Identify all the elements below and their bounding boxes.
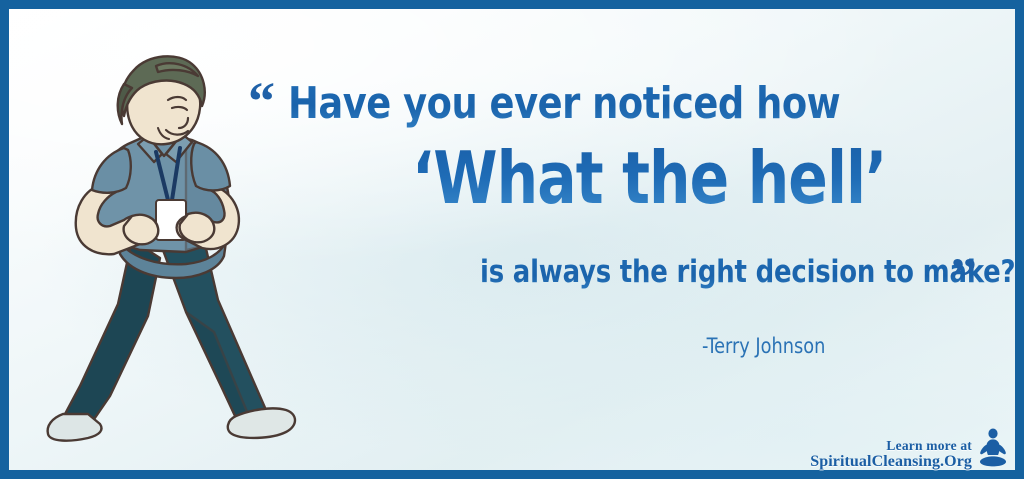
brand-text: Learn more at SpiritualCleansing.Org [810, 438, 972, 471]
meditating-figure-logo [976, 427, 1010, 471]
quote-block: “ Have you ever noticed how ‘What the he… [232, 52, 992, 352]
quote-poster: “ Have you ever noticed how ‘What the he… [0, 0, 1024, 479]
brand-tagline: Learn more at [810, 438, 972, 453]
quote-line-2: ‘What the hell’ [412, 136, 886, 220]
quote-line-3: is always the right decision to make? [480, 254, 1015, 290]
open-quote-mark: “ [248, 74, 273, 128]
quote-line-1: Have you ever noticed how [288, 78, 840, 129]
close-quote-mark: ” [950, 250, 975, 304]
quote-author: -Terry Johnson [702, 334, 825, 358]
brand-footer[interactable]: Learn more at SpiritualCleansing.Org [810, 427, 1010, 471]
brand-website[interactable]: SpiritualCleansing.Org [810, 453, 972, 471]
